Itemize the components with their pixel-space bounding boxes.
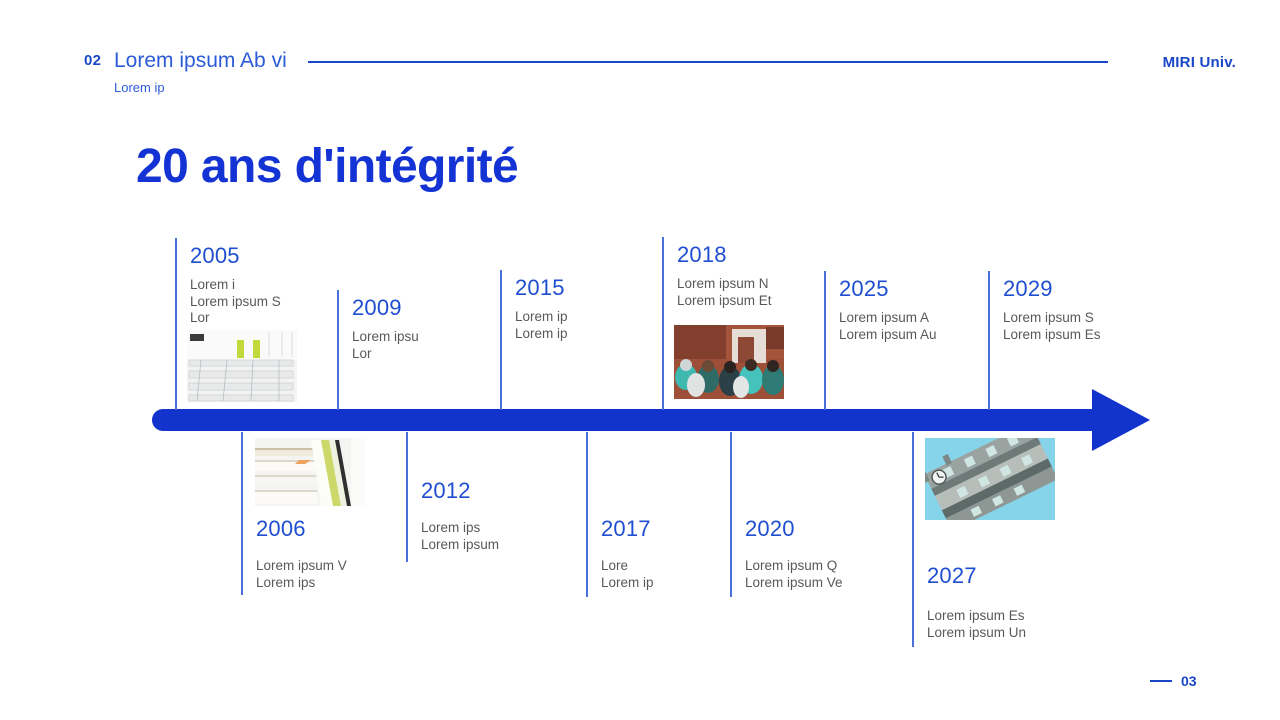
clock-tower-photo [925,438,1055,520]
timeline-divider [500,270,502,410]
timeline-year: 2015 [515,275,565,301]
timeline-description: Lorem ipsum S Lorem ipsum Es [1003,310,1101,343]
timeline-year: 2012 [421,478,471,504]
timeline-item-2005[interactable]: 2005 Lorem i Lorem ipsum S Lor [175,238,335,410]
timeline-year: 2027 [927,563,977,589]
timeline-year: 2020 [745,516,795,542]
timeline-description: Lorem ipsum A Lorem ipsum Au [839,310,937,343]
timeline-year: 2017 [601,516,651,542]
timeline-divider [730,432,732,597]
timeline-year: 2018 [677,242,727,268]
timeline-item-2029[interactable]: 2029 Lorem ipsum S Lorem ipsum Es [988,271,1148,410]
timeline-description: Lorem ip Lorem ip [515,309,568,342]
timeline-item-2009[interactable]: 2009 Lorem ipsu Lor [337,290,497,410]
timeline-divider [586,432,588,597]
timeline-divider [824,271,826,410]
timeline-item-2015[interactable]: 2015 Lorem ip Lorem ip [500,270,660,410]
section-subtitle: Lorem ip [114,80,165,95]
timeline-description: Lorem ipsum V Lorem ips [256,558,347,591]
timeline-year: 2005 [190,243,240,269]
timeline-description: Lorem ipsum N Lorem ipsum Et [677,276,772,309]
stacked-books-photo [255,438,365,506]
brand-label: MIRI Univ. [1163,54,1236,71]
timeline-description: Lorem ips Lorem ipsum [421,520,499,553]
timeline-item-2012[interactable]: 2012 Lorem ips Lorem ipsum [406,432,571,562]
timeline-item-2020[interactable]: 2020 Lorem ipsum Q Lorem ipsum Ve [730,432,910,597]
timeline-arrow-bar [152,409,1107,431]
timeline-item-2017[interactable]: 2017 Lore Lorem ip [586,432,731,597]
timeline-item-2018[interactable]: 2018 Lorem ipsum N Lorem ipsum Et [662,237,822,410]
timeline-divider [406,432,408,562]
timeline-item-2006[interactable]: 2006 Lorem ipsum V Lorem ips [241,432,406,595]
timeline-divider [988,271,990,410]
timeline-divider [175,238,177,410]
timeline-description: Lore Lorem ip [601,558,654,591]
header-divider-line [308,61,1108,63]
timeline-description: Lorem ipsum Es Lorem ipsum Un [927,608,1026,641]
section-title: Lorem ipsum Ab vi [114,49,287,73]
timeline-description: Lorem ipsum Q Lorem ipsum Ve [745,558,843,591]
timeline-item-2025[interactable]: 2025 Lorem ipsum A Lorem ipsum Au [824,271,984,410]
timeline-divider [662,237,664,410]
timeline-year: 2009 [352,295,402,321]
section-number: 02 [84,52,101,69]
page-number: 03 [1181,673,1197,689]
timeline-divider [912,432,914,647]
classroom-desks-photo [187,330,297,402]
crowd-people-photo [674,325,784,399]
timeline-item-2027[interactable]: 2027 Lorem ipsum Es Lorem ipsum Un [912,432,1092,647]
footer-dash [1150,680,1172,682]
timeline-description: Lorem ipsu Lor [352,329,419,362]
timeline-divider [337,290,339,410]
timeline-year: 2006 [256,516,306,542]
page-title: 20 ans d'intégrité [136,139,518,194]
timeline-divider [241,432,243,595]
slide: 02 Lorem ipsum Ab vi Lorem ip MIRI Univ.… [0,0,1280,720]
timeline-year: 2025 [839,276,889,302]
timeline-year: 2029 [1003,276,1053,302]
timeline-description: Lorem i Lorem ipsum S Lor [190,277,281,327]
